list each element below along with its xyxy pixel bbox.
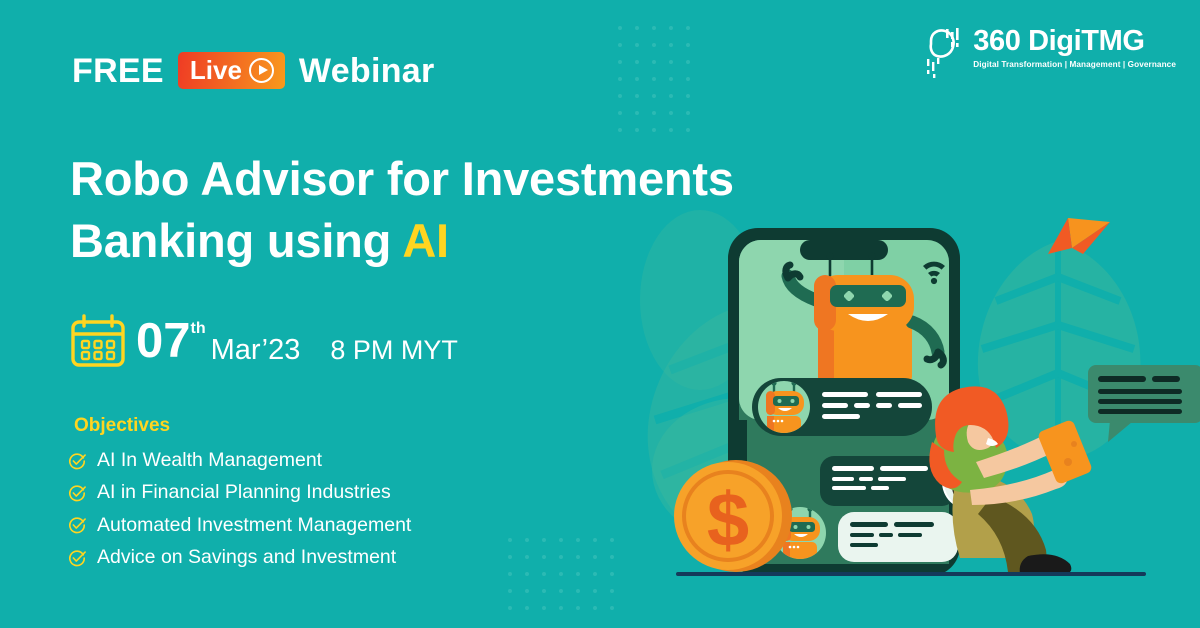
list-item-label: AI in Financial Planning Industries <box>97 481 391 504</box>
event-date-row: 07 th Mar’23 8 PM MYT <box>68 312 458 370</box>
play-icon <box>249 58 274 83</box>
live-badge: Live <box>178 52 285 89</box>
objectives-list: AI In Wealth ManagementAI in Financial P… <box>68 449 411 570</box>
event-day: 07 <box>136 317 191 366</box>
dollar-coin-icon: $ <box>674 460 792 572</box>
list-item-label: AI In Wealth Management <box>97 449 322 472</box>
hero-illustration: $ <box>640 0 1200 628</box>
calendar-icon <box>68 312 128 370</box>
ground-line <box>676 572 1146 576</box>
webinar-banner: FREE Live Webinar 360 DigiTMG Digital Tr… <box>0 0 1200 628</box>
check-circle-icon <box>68 549 86 567</box>
speech-bubble-decoration <box>1088 365 1200 442</box>
free-live-webinar-header: FREE Live Webinar <box>72 52 435 89</box>
live-label: Live <box>190 57 242 83</box>
decorative-dot-grid-bottom <box>508 538 627 623</box>
paper-plane-icon <box>1048 218 1110 254</box>
svg-text:$: $ <box>707 478 749 563</box>
headline-accent-ai: AI <box>402 214 449 267</box>
event-day-suffix: th <box>191 320 206 338</box>
list-item: Advice on Savings and Investment <box>68 546 411 569</box>
list-item-label: Advice on Savings and Investment <box>97 546 396 569</box>
check-circle-icon <box>68 484 86 502</box>
event-month-year: Mar’23 <box>211 334 301 367</box>
event-time: 8 PM MYT <box>330 335 458 366</box>
list-item: Automated Investment Management <box>68 514 411 537</box>
check-circle-icon <box>68 452 86 470</box>
chat-bubble-robot-2 <box>838 512 958 562</box>
check-circle-icon <box>68 516 86 534</box>
free-label: FREE <box>72 54 164 88</box>
list-item: AI In Wealth Management <box>68 449 411 472</box>
webinar-label: Webinar <box>299 54 435 88</box>
headline-line-2-prefix: Banking using <box>70 214 402 267</box>
list-item: AI in Financial Planning Industries <box>68 481 411 504</box>
list-item-label: Automated Investment Management <box>97 514 411 537</box>
objectives-title: Objectives <box>74 415 170 437</box>
